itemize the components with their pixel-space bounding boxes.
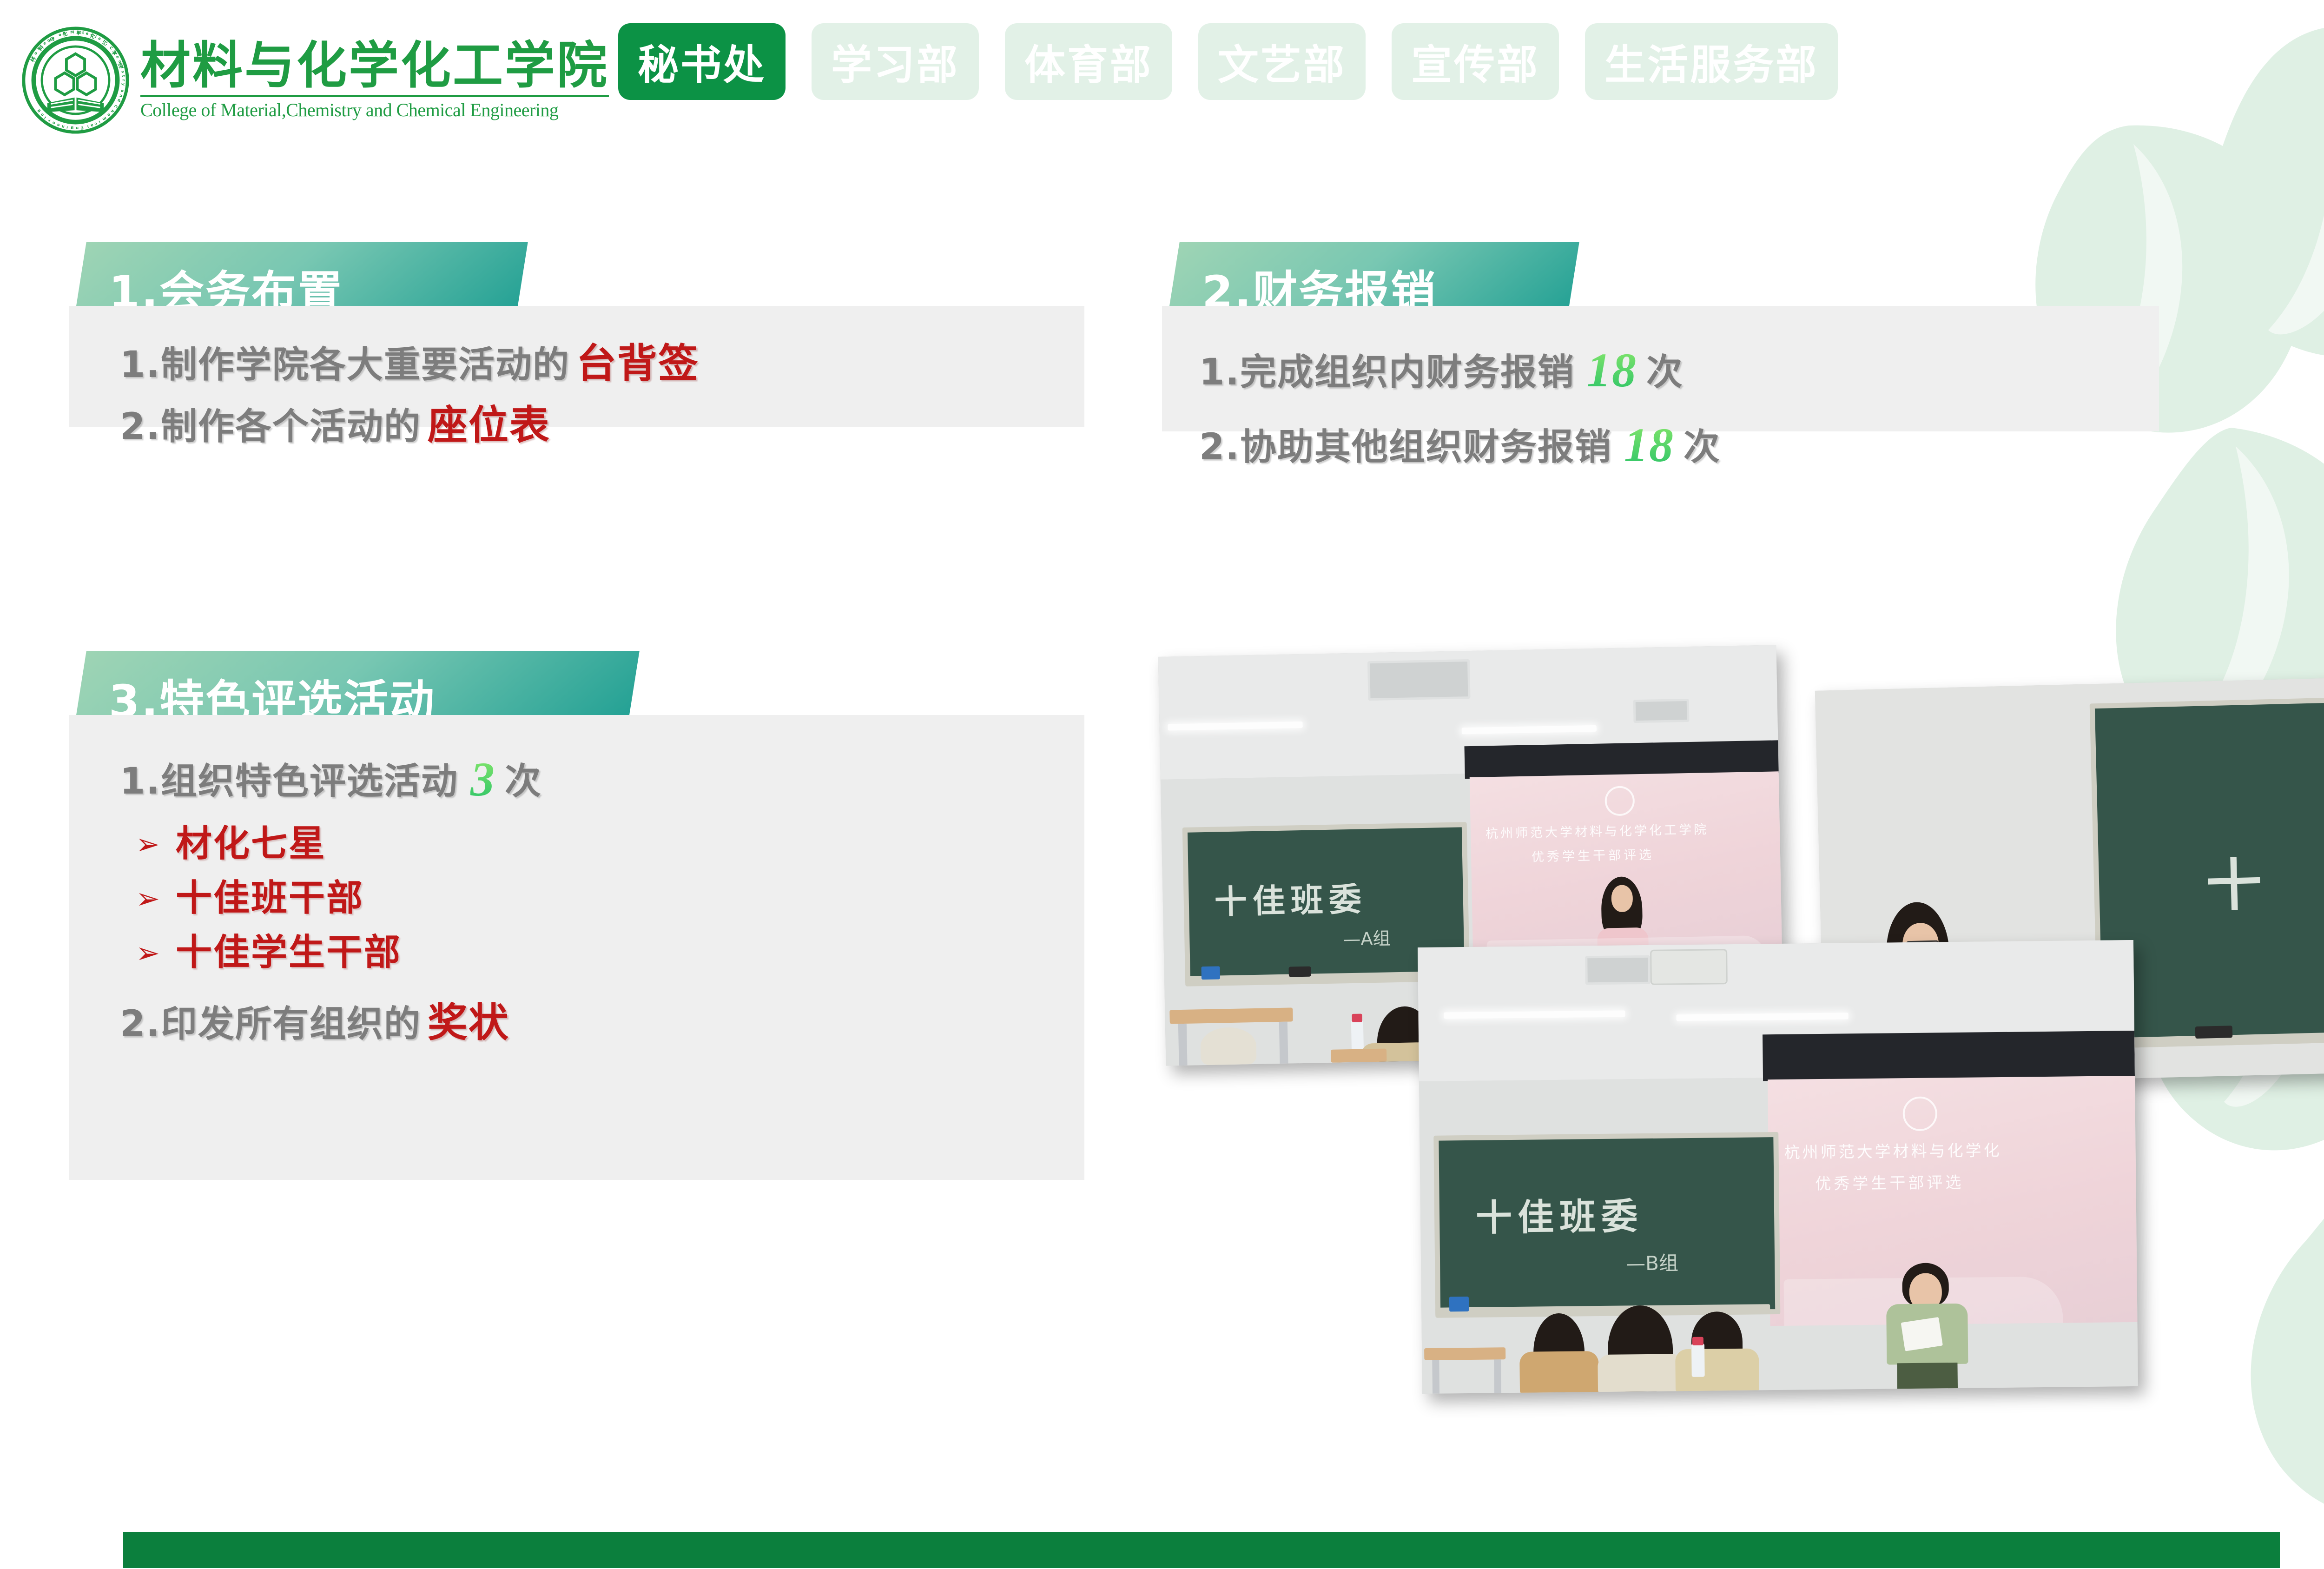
block-featured-selection: 3.特色评选活动 1.组织特色评选活动3次 ➢ 材化七星 ➢ 十佳班干部 ➢ 十… bbox=[69, 651, 1084, 1180]
svg-text:M: M bbox=[70, 30, 74, 35]
svg-text:C: C bbox=[113, 104, 119, 109]
page-header: 材 料 与 化 学 化 工 学 院 C o l l e g e o f M bbox=[0, 0, 2324, 158]
block-3-bullet-3-label: 十佳学生干部 bbox=[176, 926, 402, 980]
svg-text:a: a bbox=[77, 30, 79, 34]
svg-text:n: n bbox=[119, 94, 124, 98]
svg-text:g: g bbox=[36, 109, 41, 114]
svg-text:r: r bbox=[121, 79, 126, 81]
tab-wenyibu[interactable]: 文艺部 bbox=[1198, 23, 1366, 100]
photo-desk bbox=[1169, 1007, 1293, 1024]
block-3-line-2-prefix: 2.印发所有组织的 bbox=[120, 1003, 421, 1045]
svg-text:n: n bbox=[76, 126, 79, 131]
svg-text:o: o bbox=[33, 51, 39, 56]
photo-ceiling-vent bbox=[1585, 955, 1651, 985]
photo-blackboard-eraser bbox=[1289, 967, 1311, 977]
svg-text:i: i bbox=[43, 115, 47, 120]
block-2-line-1: 1.完成组织内财务报销18次 bbox=[1199, 333, 2126, 408]
photo-ac-vent bbox=[1367, 659, 1471, 701]
photo-student-body bbox=[1519, 1351, 1599, 1394]
bottom-accent-bar bbox=[123, 1532, 2280, 1568]
photo-screen-title: 杭州师范大学材料与化学化工学院 bbox=[1486, 819, 1709, 841]
block-3-line-1-number: 3 bbox=[470, 753, 495, 806]
block-1-line-2-highlight: 座位表 bbox=[428, 402, 550, 449]
block-1-body: 1.制作学院各大重要活动的台背签 2.制作各个活动的座位表 bbox=[69, 306, 1084, 427]
photo-chalk-box bbox=[1449, 1297, 1469, 1311]
svg-text:o: o bbox=[58, 32, 62, 37]
block-3-body: 1.组织特色评选活动3次 ➢ 材化七星 ➢ 十佳班干部 ➢ 十佳学生干部 2.印… bbox=[69, 715, 1084, 1180]
block-3-bullet-2-label: 十佳班干部 bbox=[176, 871, 364, 926]
block-1-line-1-highlight: 台背签 bbox=[576, 340, 699, 387]
block-3-bullet-2: ➢ 十佳班干部 bbox=[136, 871, 1052, 926]
block-2-line-2-number: 18 bbox=[1624, 418, 1674, 472]
college-logo: 材 料 与 化 学 化 工 学 院 C o l l e g e o f M bbox=[21, 26, 609, 135]
tab-mishuchu[interactable]: 秘书处 bbox=[618, 23, 786, 100]
svg-text:E: E bbox=[80, 126, 84, 131]
svg-text:a: a bbox=[120, 89, 125, 93]
block-2-line-1-suffix: 次 bbox=[1646, 351, 1684, 393]
photo-presenter-paper bbox=[1901, 1317, 1943, 1351]
department-tabs[interactable]: 秘书处 学习部 体育部 文艺部 宣传部 生活服务部 bbox=[618, 23, 1864, 107]
photo-screen-subtitle: 优秀学生干部评选 bbox=[1532, 844, 1655, 865]
photo-desk-leg bbox=[1178, 1024, 1188, 1066]
block-3-line-1: 1.组织特色评选活动3次 bbox=[120, 742, 1052, 817]
photo-student-body bbox=[1675, 1348, 1759, 1392]
svg-text:e: e bbox=[56, 123, 60, 128]
block-2-line-2-prefix: 2.协助其他组织财务报销 bbox=[1199, 426, 1612, 468]
block-3-line-2: 2.印发所有组织的奖状 bbox=[120, 992, 1052, 1054]
block-3-line-2-highlight: 奖状 bbox=[428, 1000, 509, 1046]
block-3-bullet-1-label: 材化七星 bbox=[176, 817, 326, 871]
photo-projector bbox=[1650, 949, 1728, 985]
block-3-bullet-3: ➢ 十佳学生干部 bbox=[136, 926, 1052, 980]
block-financial-reimbursement: 2.财务报销 1.完成组织内财务报销18次 2.协助其他组织财务报销18次 bbox=[1162, 242, 2159, 431]
svg-text:l: l bbox=[87, 125, 89, 129]
svg-text:y: y bbox=[121, 83, 126, 86]
college-name-block: 材料与化学化工学院 College of Material,Chemistry … bbox=[140, 40, 609, 121]
block-3-bullet-1: ➢ 材化七星 bbox=[136, 817, 1052, 871]
svg-text:n: n bbox=[61, 124, 65, 129]
tab-tiyubu[interactable]: 体育部 bbox=[1005, 23, 1172, 100]
photo-blackboard-text: 十佳班委 bbox=[1214, 873, 1367, 923]
tab-xuanchuanbu[interactable]: 宣传部 bbox=[1392, 23, 1559, 100]
tab-xuexibu[interactable]: 学习部 bbox=[812, 23, 979, 100]
photo-presenter-trousers bbox=[1897, 1363, 1958, 1390]
svg-text:i: i bbox=[98, 119, 102, 124]
logo-divider bbox=[140, 95, 609, 97]
photo-blackboard: 十佳班委 —B组 bbox=[1433, 1132, 1780, 1318]
block-1-line-2-prefix: 2.制作各个活动的 bbox=[120, 406, 421, 448]
block-2-line-1-prefix: 1.完成组织内财务报销 bbox=[1199, 351, 1575, 393]
block-meeting-arrangement: 1.会务布置 1.制作学院各大重要活动的台背签 2.制作各个活动的座位表 bbox=[69, 242, 1084, 427]
svg-text:e: e bbox=[115, 54, 121, 59]
svg-text:c: c bbox=[94, 121, 98, 126]
photo-screen-logo-icon bbox=[1604, 786, 1635, 816]
photo-bottle-cap bbox=[1692, 1337, 1703, 1345]
photo-desk-leg bbox=[1494, 1359, 1501, 1393]
svg-text:C: C bbox=[109, 45, 114, 50]
college-emblem-icon: 材 料 与 化 学 化 工 学 院 C o l l e g e o f M bbox=[21, 26, 130, 135]
photo-projector-screen: 杭州师范大学材料与化学化工学院 优秀学生干部评选 bbox=[1470, 771, 1783, 963]
photo-screen-subtitle: 优秀学生干部评选 bbox=[1815, 1170, 1964, 1194]
photo-screen-title: 杭州师范大学材料与化学化 bbox=[1784, 1138, 2001, 1163]
tab-shenghuofuwubu[interactable]: 生活服务部 bbox=[1585, 23, 1838, 100]
photo-desk bbox=[1331, 1049, 1387, 1063]
photo-blackboard-group: —A组 bbox=[1343, 924, 1391, 950]
arrow-right-icon: ➢ bbox=[136, 830, 160, 859]
photo-projector-screen: 杭州师范大学材料与化学化 优秀学生干部评选 bbox=[1768, 1076, 2138, 1326]
photo-student-body bbox=[1598, 1354, 1684, 1393]
photo-blackboard-text: 十 佳 bbox=[2205, 835, 2324, 921]
photo-classroom-group-b: 杭州师范大学材料与化学化 优秀学生干部评选 十佳班委 —B组 bbox=[1418, 940, 2138, 1394]
svg-text:i: i bbox=[66, 126, 68, 130]
block-3-line-1-suffix: 次 bbox=[505, 761, 542, 802]
block-1-line-1: 1.制作学院各大重要活动的台背签 bbox=[120, 333, 1052, 395]
arrow-right-icon: ➢ bbox=[136, 884, 160, 913]
block-1-line-1-prefix: 1.制作学院各大重要活动的 bbox=[120, 344, 570, 386]
svg-text:e: e bbox=[106, 113, 112, 118]
svg-text:r: r bbox=[47, 118, 52, 123]
college-name-cn: 材料与化学化工学院 bbox=[140, 40, 609, 92]
svg-text:t: t bbox=[121, 75, 126, 77]
photo-desk bbox=[1424, 1347, 1505, 1360]
block-2-line-2: 2.协助其他组织财务报销18次 bbox=[1199, 408, 2126, 483]
photo-stool bbox=[1200, 1027, 1257, 1065]
college-name-en: College of Material,Chemistry and Chemic… bbox=[140, 99, 609, 121]
svg-text:e: e bbox=[51, 120, 56, 126]
block-2-line-2-suffix: 次 bbox=[1684, 426, 1721, 468]
photo-screen-frame bbox=[1763, 1031, 2135, 1081]
photo-screen-person-face bbox=[1611, 885, 1633, 912]
svg-text:e: e bbox=[42, 40, 47, 46]
block-3-line-1-prefix: 1.组织特色评选活动 bbox=[120, 761, 458, 802]
svg-text:a: a bbox=[90, 123, 94, 128]
svg-text:h: h bbox=[110, 109, 115, 114]
photo-desk-leg bbox=[1432, 1360, 1439, 1394]
photo-water-bottle bbox=[1691, 1344, 1705, 1377]
photo-desk-leg bbox=[1279, 1022, 1288, 1064]
arrow-right-icon: ➢ bbox=[136, 939, 160, 967]
svg-text:n: n bbox=[40, 112, 45, 117]
svg-text:s: s bbox=[120, 70, 125, 73]
svg-text:g: g bbox=[71, 126, 74, 131]
block-2-line-1-number: 18 bbox=[1587, 344, 1637, 397]
photo-bottle-cap bbox=[1352, 1014, 1362, 1022]
block-2-body: 1.完成组织内财务报销18次 2.协助其他组织财务报销18次 bbox=[1162, 306, 2159, 431]
photo-chalk-box bbox=[1201, 966, 1220, 980]
svg-text:e: e bbox=[86, 31, 89, 36]
photo-blackboard-group: —B组 bbox=[1626, 1247, 1678, 1276]
block-1-line-2: 2.制作各个活动的座位表 bbox=[120, 395, 1052, 457]
photo-screen-logo-icon bbox=[1902, 1096, 1937, 1131]
svg-text:d: d bbox=[117, 99, 122, 103]
svg-text:a: a bbox=[97, 36, 102, 41]
photo-blackboard-text: 十佳班委 bbox=[1475, 1187, 1643, 1241]
photo-blackboard-eraser bbox=[2195, 1026, 2233, 1039]
svg-text:t: t bbox=[82, 30, 85, 35]
photo-ceiling-vent bbox=[1633, 699, 1690, 723]
